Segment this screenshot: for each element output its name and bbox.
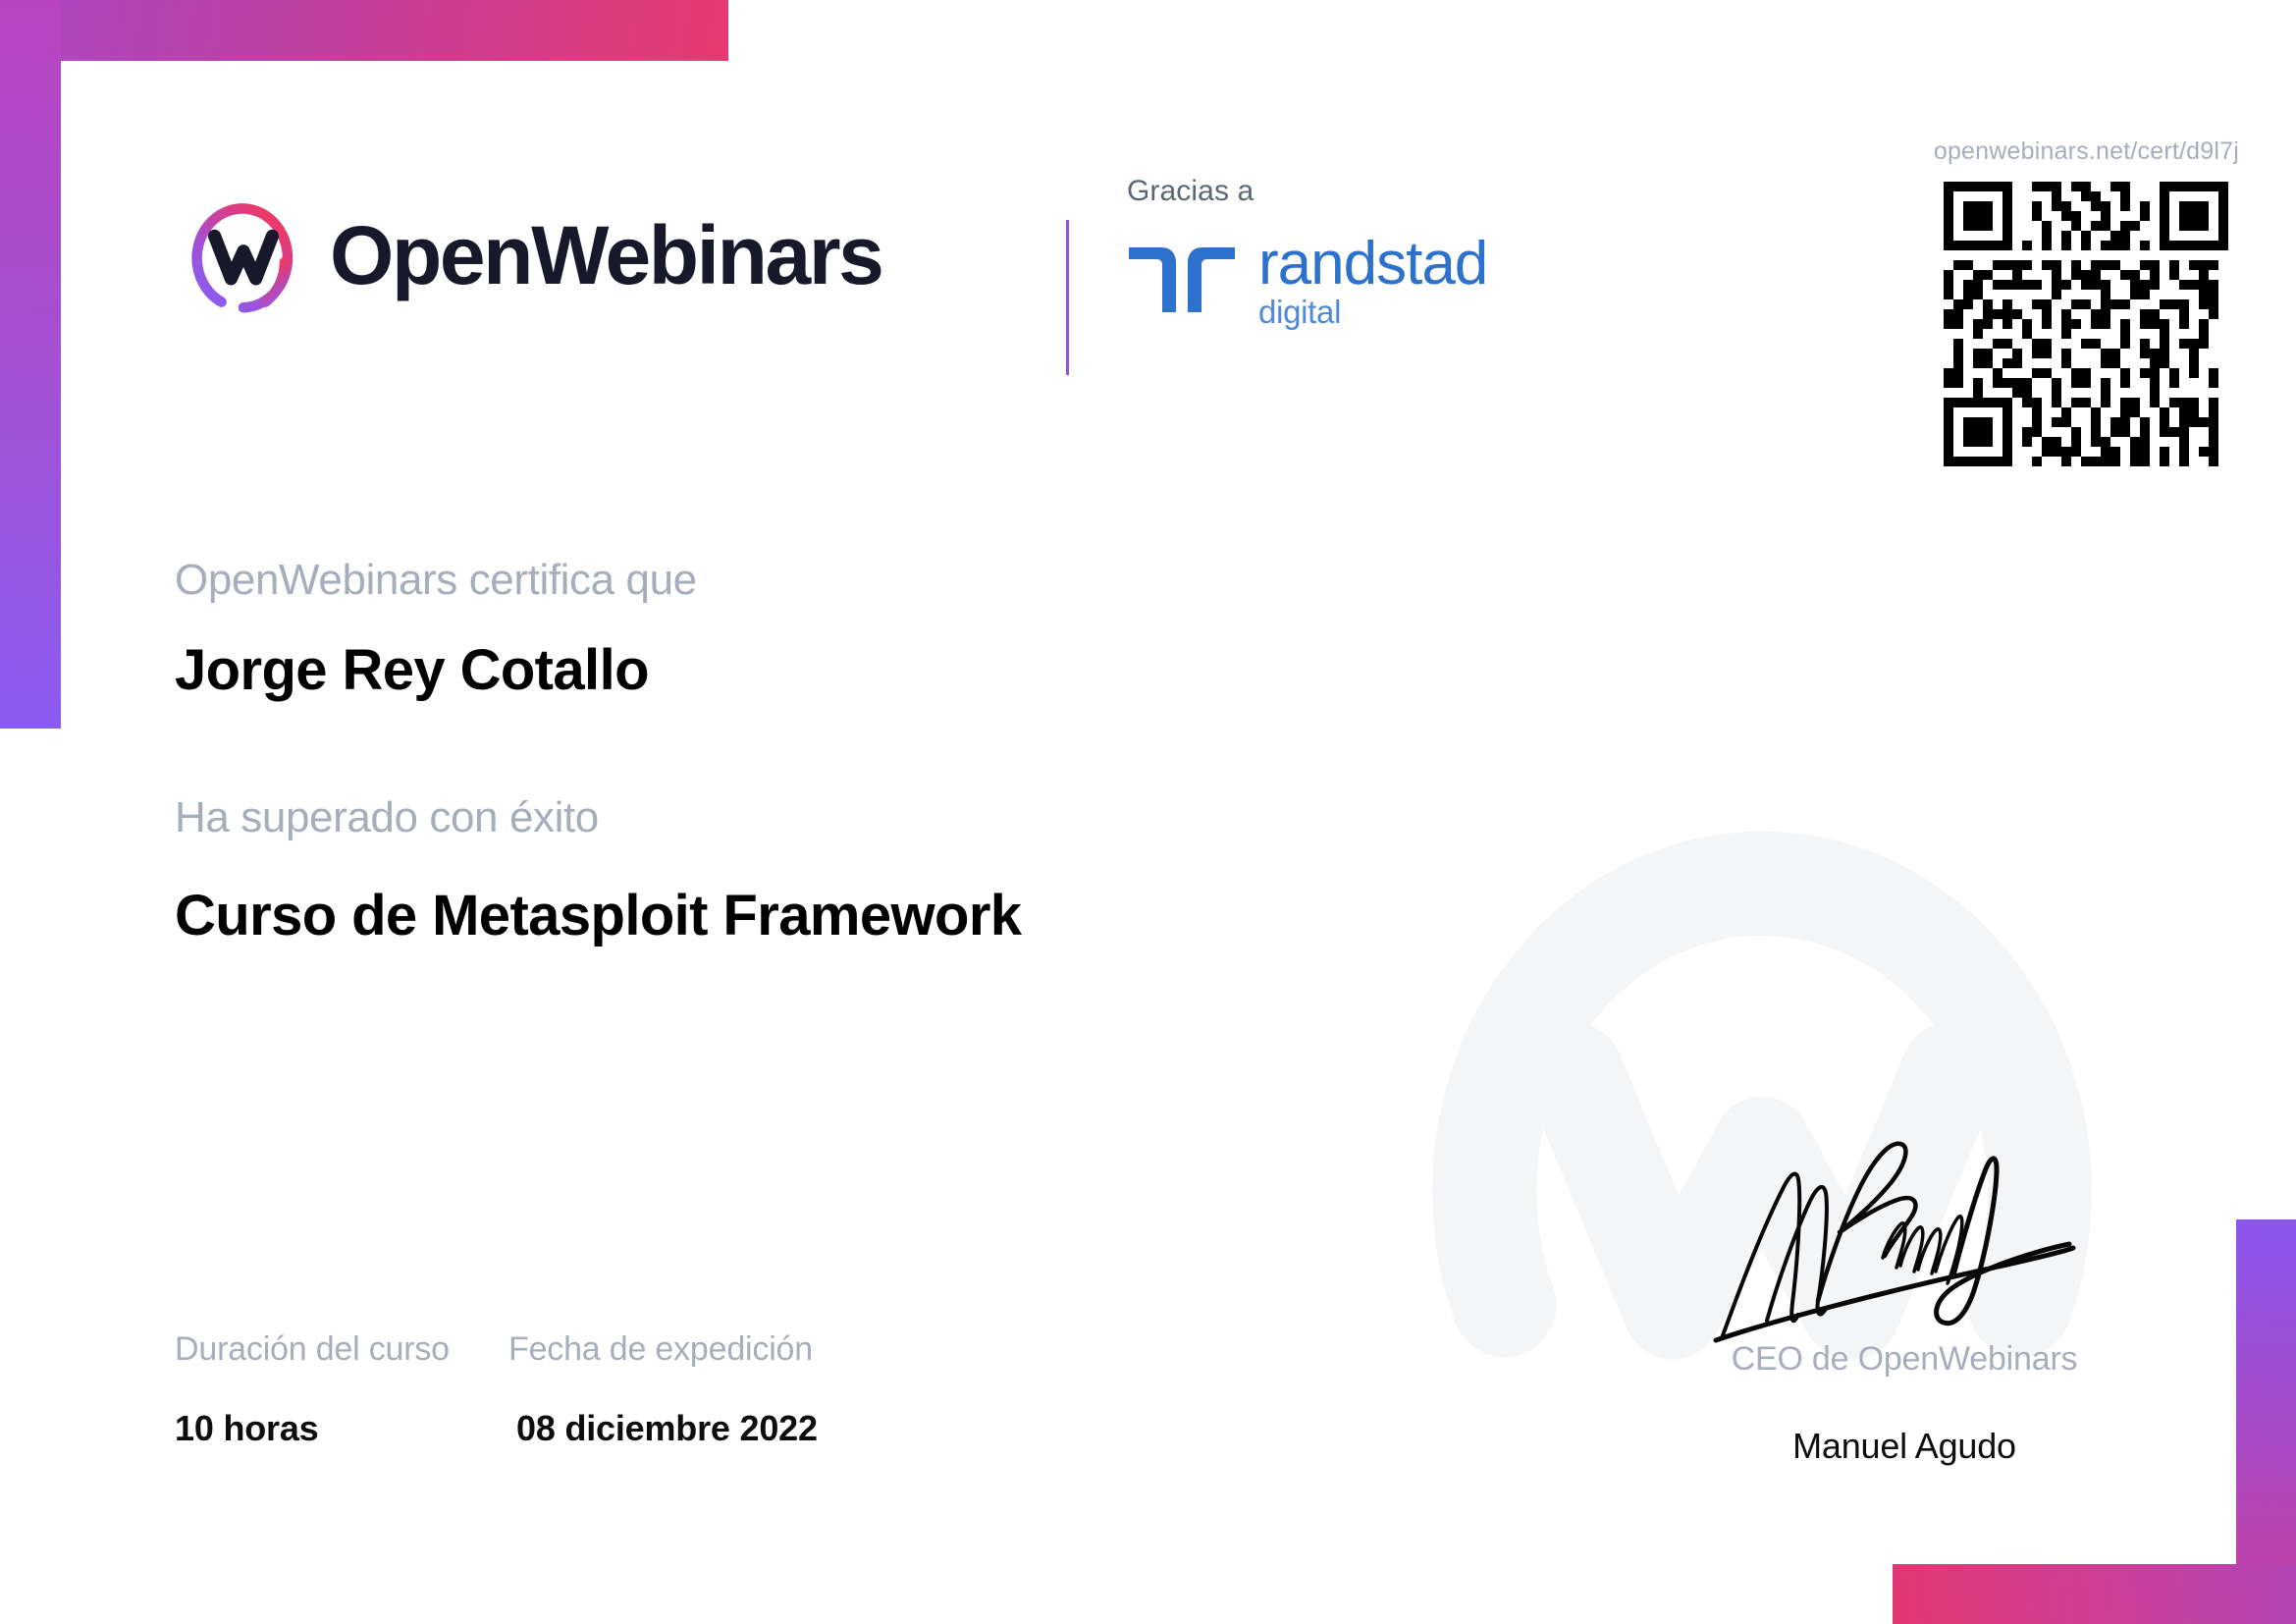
randstad-subname: digital	[1258, 296, 1487, 328]
duration-field: Duración del curso 10 horas	[175, 1330, 508, 1449]
corner-decoration-top-left-vertical	[0, 0, 61, 729]
certificate-footer-meta: Duración del curso 10 horas Fecha de exp…	[175, 1330, 921, 1449]
handwritten-signature-icon	[1708, 1128, 2101, 1354]
randstad-name: randstad	[1258, 236, 1487, 294]
verification-section: openwebinars.net/cert/d9l7j	[1934, 137, 2239, 466]
signatory-name: Manuel Agudo	[1669, 1426, 2140, 1467]
sponsor-section: Gracias a randstad digital	[1127, 175, 1487, 328]
sponsor-label: Gracias a	[1127, 175, 1487, 208]
randstad-wordmark: randstad digital	[1258, 236, 1487, 328]
header-divider	[1066, 220, 1069, 375]
signature-section: CEO de OpenWebinars Manuel Agudo	[1669, 1128, 2140, 1467]
openwebinars-wordmark: OpenWebinars	[330, 214, 881, 297]
randstad-logo: randstad digital	[1127, 242, 1487, 328]
qr-code-icon[interactable]	[1944, 182, 2228, 466]
achievement-caption: Ha superado con éxito	[175, 792, 1451, 844]
corner-decoration-top-left-horizontal	[0, 0, 728, 61]
certificate-page: OpenWebinars Gracias a randstad digital …	[0, 0, 2296, 1624]
verification-url: openwebinars.net/cert/d9l7j	[1934, 137, 2239, 166]
issue-date-value: 08 diciembre 2022	[508, 1408, 921, 1449]
course-title: Curso de Metasploit Framework	[175, 882, 1451, 950]
corner-decoration-bottom-right-horizontal	[1893, 1564, 2296, 1624]
certificate-body: OpenWebinars certifica que Jorge Rey Cot…	[175, 555, 1451, 950]
signatory-role: CEO de OpenWebinars	[1669, 1340, 2140, 1379]
randstad-mark-icon	[1127, 242, 1237, 318]
recipient-name: Jorge Rey Cotallo	[175, 636, 1451, 705]
duration-label: Duración del curso	[175, 1330, 508, 1369]
openwebinars-logo: OpenWebinars	[175, 187, 881, 324]
duration-value: 10 horas	[175, 1408, 508, 1449]
recipient-caption: OpenWebinars certifica que	[175, 555, 1451, 607]
issue-date-field: Fecha de expedición 08 diciembre 2022	[508, 1330, 921, 1449]
openwebinars-w-mark-icon	[175, 187, 312, 324]
issue-date-label: Fecha de expedición	[508, 1330, 921, 1369]
